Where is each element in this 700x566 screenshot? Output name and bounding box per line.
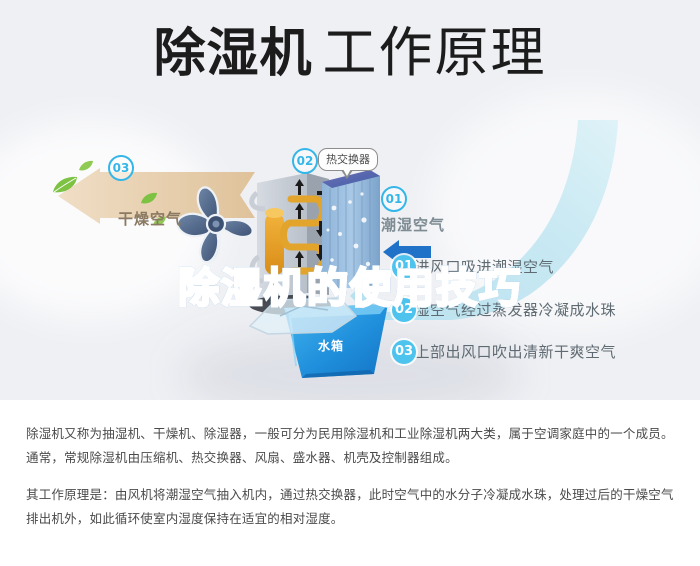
overlay-headline-text: 除湿机的使用技巧: [178, 264, 522, 312]
badge-humid-air: 01: [381, 186, 407, 212]
leaf-icon: [140, 192, 158, 205]
leaf-icon: [52, 176, 78, 194]
overlay-headline: 除湿机的使用技巧: [0, 268, 700, 309]
badge-dry-air: 03: [108, 155, 134, 181]
article-body: 除湿机又称为抽湿机、干燥机、除湿器，一般可分为民用除湿机和工业除湿机两大类，属于…: [0, 400, 700, 566]
badge-heat-exchanger: 02: [292, 148, 318, 174]
page-root: 除湿机工作原理: [0, 0, 700, 566]
label-humid-air: 潮湿空气: [381, 214, 445, 235]
step-label: 从上部出风口吹出清新干爽空气: [399, 341, 616, 362]
paragraph-2: 其工作原理是：由风机将潮湿空气抽入机内，通过热交换器，此时空气中的水分子冷凝成水…: [26, 483, 674, 532]
fan-blade-icon: [168, 176, 264, 272]
leaf-icon: [78, 160, 94, 172]
paragraph-1: 除湿机又称为抽湿机、干燥机、除湿器，一般可分为民用除湿机和工业除湿机两大类，属于…: [26, 422, 674, 471]
label-dry-air: 干燥空气: [118, 208, 182, 229]
water-tank-label: 水箱: [318, 337, 344, 354]
page-title-strong: 除湿机: [153, 24, 312, 84]
illustration-panel: 除湿机工作原理: [0, 0, 700, 400]
heat-exchanger-callout: 热交换器: [318, 148, 378, 171]
step-badge: 03: [392, 340, 416, 364]
step-item: 03 从上部出风口吹出清新干爽空气: [392, 341, 616, 362]
page-title: 除湿机工作原理: [0, 26, 700, 80]
page-title-light: 工作原理: [323, 21, 547, 84]
